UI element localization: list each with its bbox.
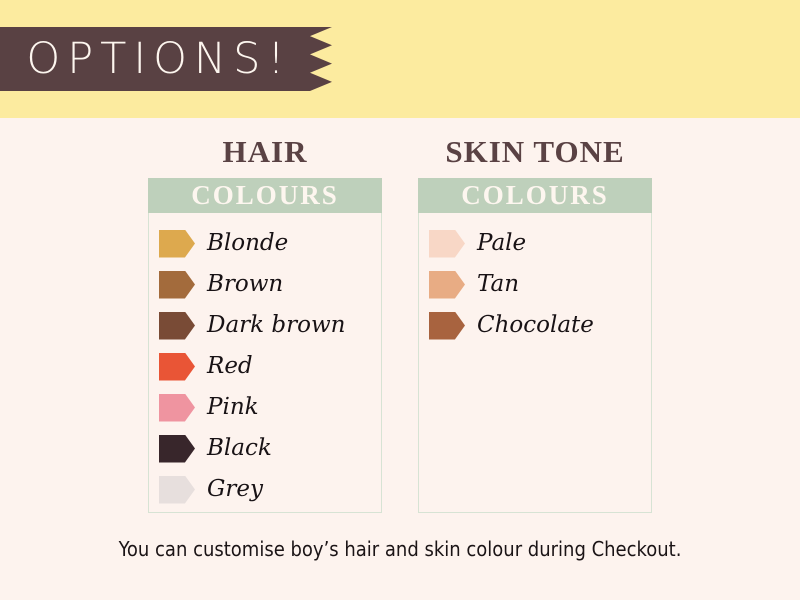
list-item[interactable]: Red <box>159 346 381 387</box>
colour-swatch-icon <box>159 230 195 258</box>
hair-colours-column: HAIR COLOURS Blonde Brown Dark brown Red… <box>148 134 382 513</box>
swatch-label: Tan <box>477 273 519 296</box>
hair-heading: HAIR <box>148 134 382 170</box>
ribbon-zigzag-edge <box>310 27 332 91</box>
colour-swatch-icon <box>159 394 195 422</box>
list-item[interactable]: Blonde <box>159 223 381 264</box>
skin-tone-heading: SKIN TONE <box>418 134 652 170</box>
top-yellow-band: OPTIONS! <box>0 0 800 118</box>
list-item[interactable]: Grey <box>159 469 381 510</box>
colour-swatch-icon <box>429 271 465 299</box>
swatch-label: Pale <box>477 232 526 255</box>
hair-colours-bar-label: COLOURS <box>148 178 382 213</box>
colour-swatch-icon <box>159 435 195 463</box>
list-item[interactable]: Dark brown <box>159 305 381 346</box>
colour-swatch-icon <box>159 312 195 340</box>
swatch-label: Dark brown <box>207 314 345 337</box>
list-item[interactable]: Pale <box>429 223 651 264</box>
list-item[interactable]: Pink <box>159 387 381 428</box>
list-item[interactable]: Chocolate <box>429 305 651 346</box>
list-item[interactable]: Black <box>159 428 381 469</box>
list-item[interactable]: Tan <box>429 264 651 305</box>
skin-colours-bar-label: COLOURS <box>418 178 652 213</box>
list-item[interactable]: Brown <box>159 264 381 305</box>
caption-text: You can customise boy’s hair and skin co… <box>0 537 800 561</box>
swatch-label: Red <box>207 355 253 378</box>
colour-swatch-icon <box>429 230 465 258</box>
colour-swatch-icon <box>429 312 465 340</box>
options-ribbon: OPTIONS! <box>0 27 332 91</box>
page-title: OPTIONS! <box>0 27 310 91</box>
swatch-label: Brown <box>207 273 283 296</box>
swatch-label: Chocolate <box>477 314 594 337</box>
skin-swatch-panel: Pale Tan Chocolate <box>418 213 652 513</box>
swatch-label: Grey <box>207 478 263 501</box>
colour-swatch-icon <box>159 271 195 299</box>
colour-swatch-icon <box>159 353 195 381</box>
swatch-label: Blonde <box>207 232 288 255</box>
swatch-label: Black <box>207 437 272 460</box>
swatch-label: Pink <box>207 396 259 419</box>
skin-tone-colours-column: SKIN TONE COLOURS Pale Tan Chocolate <box>418 134 652 513</box>
colour-swatch-icon <box>159 476 195 504</box>
hair-swatch-panel: Blonde Brown Dark brown Red Pink Black G… <box>148 213 382 513</box>
